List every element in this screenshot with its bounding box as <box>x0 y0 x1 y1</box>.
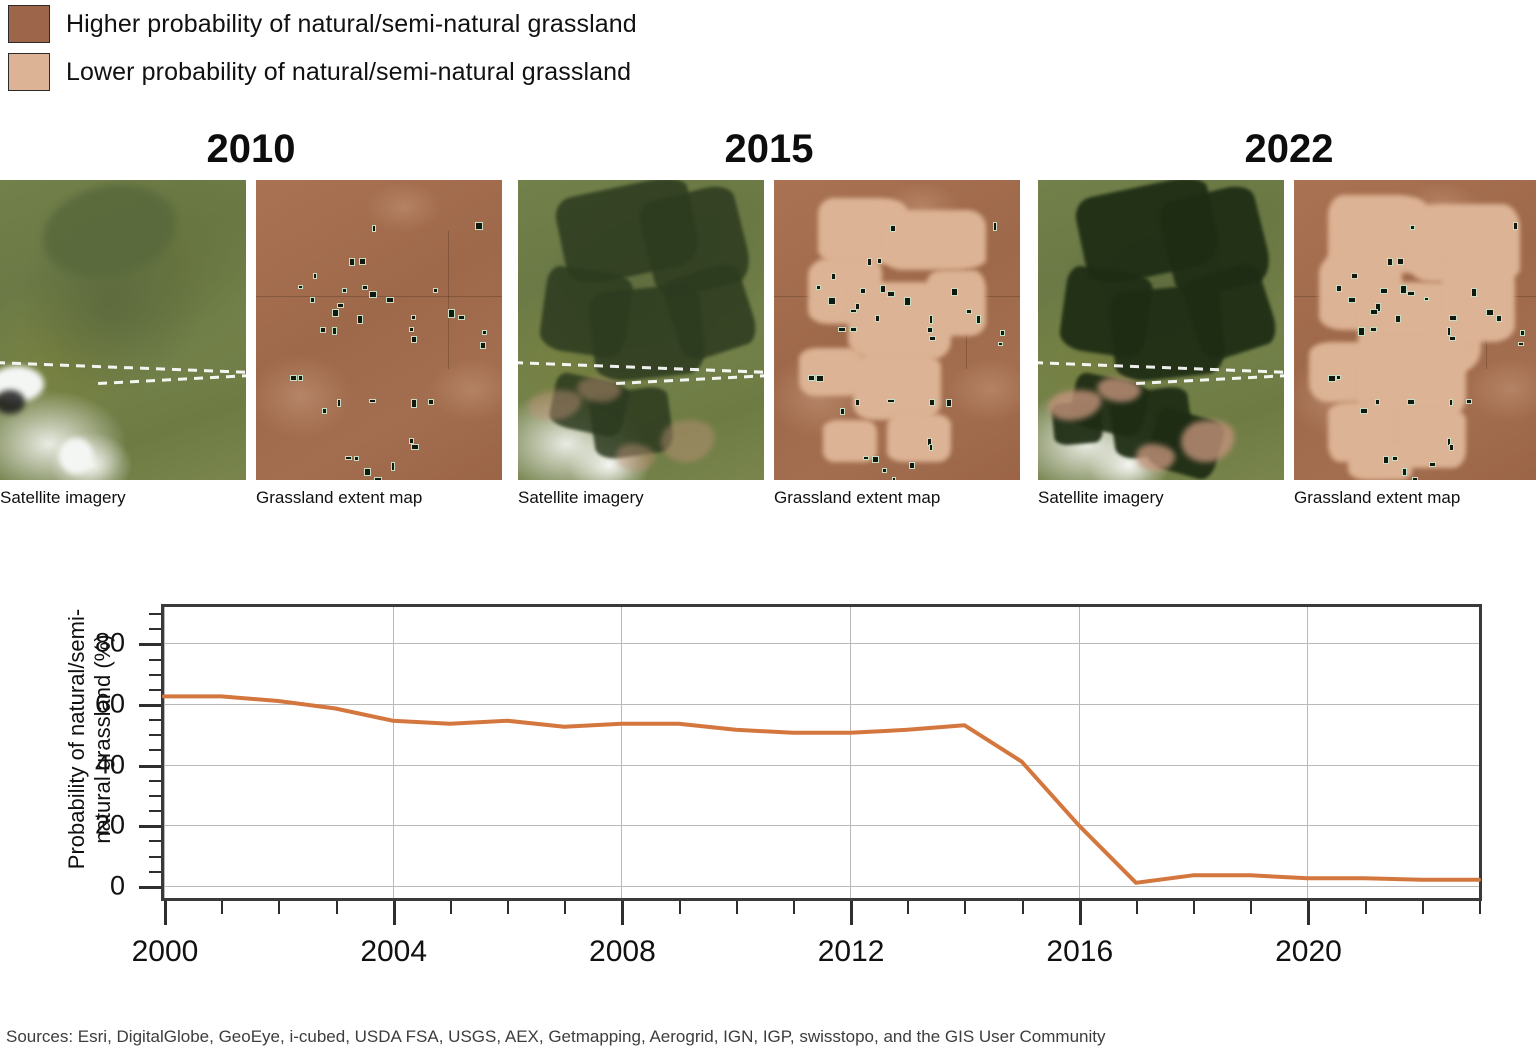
x-axis-tick-label: 2008 <box>589 935 656 969</box>
legend: Higher probability of natural/semi-natur… <box>0 0 1100 96</box>
legend-row-higher: Higher probability of natural/semi-natur… <box>0 0 1100 48</box>
speck <box>1520 330 1525 336</box>
panel-caption: Satellite imagery <box>1038 486 1284 510</box>
speck <box>1370 327 1377 332</box>
river-boundary-line <box>98 374 246 385</box>
speck <box>1360 408 1368 414</box>
speck <box>1447 327 1451 336</box>
x-minor-tick <box>1193 901 1195 914</box>
speck <box>1486 309 1494 316</box>
satellite-terrain <box>1038 180 1284 480</box>
speck <box>362 285 368 290</box>
y-major-tick <box>139 643 161 646</box>
x-minor-tick <box>907 901 909 914</box>
plot-area <box>161 604 1482 901</box>
speck <box>1395 315 1401 323</box>
speck <box>1518 342 1524 346</box>
speck <box>411 444 419 450</box>
y-minor-tick <box>149 628 161 630</box>
grassland-map-panel[interactable]: Grassland extent map <box>774 180 1020 510</box>
x-axis-tick-label: 2012 <box>818 935 885 969</box>
speck <box>1449 336 1456 341</box>
y-minor-tick <box>149 689 161 691</box>
y-minor-tick <box>149 856 161 858</box>
grassland-map-panel[interactable]: Grassland extent map <box>1294 180 1536 510</box>
speck <box>342 288 347 293</box>
grassland-probability-surface <box>1294 180 1536 480</box>
speck <box>887 399 895 403</box>
legend-label-lower: Lower probability of natural/semi-natura… <box>66 60 631 85</box>
y-major-tick <box>139 765 161 768</box>
speck <box>364 468 371 476</box>
speck <box>816 285 821 290</box>
speck <box>1412 477 1418 480</box>
speck <box>867 258 872 266</box>
speck <box>428 399 434 405</box>
satellite-image <box>518 180 764 480</box>
speck <box>951 288 958 296</box>
speck <box>855 399 860 406</box>
speck <box>1000 330 1005 336</box>
speck <box>882 468 887 473</box>
x-minor-tick <box>1022 901 1024 914</box>
y-major-tick <box>139 886 161 889</box>
speck <box>976 315 981 324</box>
x-major-tick <box>1307 901 1310 925</box>
speck <box>831 273 836 280</box>
x-minor-tick <box>1136 901 1138 914</box>
speck <box>409 327 414 332</box>
y-minor-tick <box>149 613 161 615</box>
x-minor-tick <box>1422 901 1424 914</box>
speck <box>386 297 394 303</box>
speck <box>1429 462 1436 467</box>
satellite-terrain <box>0 180 246 480</box>
speck <box>1407 399 1415 405</box>
speck <box>1348 297 1356 303</box>
speck <box>310 297 315 303</box>
speck <box>433 288 438 293</box>
grassland-probability-surface <box>256 180 502 480</box>
speck <box>1380 288 1388 294</box>
cloud-shadow <box>0 390 25 414</box>
x-minor-tick <box>278 901 280 914</box>
speck <box>332 327 337 335</box>
satellite-panel[interactable]: Satellite imagery <box>0 180 246 510</box>
y-minor-tick <box>149 749 161 751</box>
speck <box>838 327 846 332</box>
speck <box>1351 273 1358 279</box>
x-minor-tick <box>736 901 738 914</box>
speck <box>448 309 455 318</box>
speck <box>929 444 933 451</box>
speck <box>482 330 487 335</box>
speck <box>929 336 936 341</box>
y-axis-label: Probability of natural/semi-natural gras… <box>14 586 66 916</box>
panel-caption: Grassland extent map <box>774 486 1020 510</box>
feature-specks <box>1294 180 1536 480</box>
speck <box>391 462 395 471</box>
speck <box>475 222 483 230</box>
speck <box>909 462 915 469</box>
speck <box>1466 399 1472 404</box>
y-minor-tick <box>149 659 161 661</box>
speck <box>1392 456 1398 461</box>
speck <box>349 258 355 266</box>
satellite-image <box>1038 180 1284 480</box>
speck <box>892 477 896 480</box>
x-axis-tick-label: 2020 <box>1275 935 1342 969</box>
speck <box>993 222 997 231</box>
satellite-terrain <box>518 180 764 480</box>
speck <box>929 399 935 406</box>
speck <box>1449 399 1453 406</box>
speck <box>1407 291 1415 296</box>
y-major-tick <box>139 704 161 707</box>
y-minor-tick <box>149 871 161 873</box>
speck <box>372 225 376 232</box>
speck <box>320 327 326 333</box>
satellite-panel[interactable]: Satellite imagery <box>1038 180 1284 510</box>
speck <box>354 456 359 461</box>
x-axis-tick-label: 2016 <box>1046 935 1113 969</box>
speck <box>369 399 376 403</box>
speck <box>411 399 417 408</box>
y-major-tick <box>139 825 161 828</box>
x-minor-tick <box>507 901 509 914</box>
speck <box>1375 399 1380 405</box>
speck <box>1397 258 1404 265</box>
grassland-extent-image <box>774 180 1020 480</box>
satellite-image <box>0 180 246 480</box>
data-line-svg <box>164 607 1479 898</box>
speck <box>850 309 857 313</box>
y-axis-title-line1: Probability of natural/semi- <box>64 574 90 904</box>
speck <box>1496 315 1502 322</box>
y-minor-tick <box>149 795 161 797</box>
image-row: Satellite imageryGrassland extent map <box>0 180 502 510</box>
speck <box>313 273 317 279</box>
speck <box>480 342 486 349</box>
panel-group-2010: 2010Satellite imageryGrassland extent ma… <box>0 118 502 510</box>
speck <box>872 456 879 463</box>
speck <box>290 375 297 381</box>
speck <box>828 297 836 305</box>
speck <box>1513 222 1518 230</box>
speck <box>357 315 363 324</box>
y-minor-tick <box>149 734 161 736</box>
speck <box>298 375 303 381</box>
speck <box>1336 285 1342 292</box>
image-row: Satellite imageryGrassland extent map <box>1038 180 1536 510</box>
speck <box>1336 375 1341 380</box>
speck <box>337 399 341 407</box>
speck <box>359 258 366 265</box>
panel-caption: Grassland extent map <box>1294 486 1536 510</box>
speck <box>332 309 339 317</box>
probability-line-chart: 020406080200020042008201220162020 <box>0 560 1536 980</box>
speck <box>345 456 352 460</box>
speck <box>998 342 1003 346</box>
sources-note: Sources: Esri, DigitalGlobe, GeoEye, i-c… <box>6 1027 1105 1047</box>
speck <box>1387 258 1393 266</box>
feature-specks <box>774 180 1020 480</box>
x-minor-tick <box>679 901 681 914</box>
speck <box>1370 309 1378 315</box>
speck <box>860 288 866 294</box>
speck <box>1410 225 1415 230</box>
probability-series-line <box>164 696 1479 882</box>
y-minor-tick <box>149 674 161 676</box>
feature-specks <box>256 180 502 480</box>
panel-groups: 2010Satellite imageryGrassland extent ma… <box>0 118 1536 528</box>
legend-swatch-lower <box>8 53 50 91</box>
cloud <box>59 438 93 474</box>
speck <box>1424 297 1429 301</box>
speck <box>890 225 896 232</box>
year-title: 2022 <box>1038 118 1536 180</box>
speck <box>322 408 327 414</box>
y-minor-tick <box>149 780 161 782</box>
panel-caption: Satellite imagery <box>0 486 246 510</box>
legend-swatch-higher <box>8 5 50 43</box>
panel-group-2015: 2015Satellite imageryGrassland extent ma… <box>518 118 1020 510</box>
x-major-tick <box>1079 901 1082 925</box>
speck <box>887 291 895 297</box>
x-minor-tick <box>1250 901 1252 914</box>
x-minor-tick <box>793 901 795 914</box>
speck <box>1402 468 1407 476</box>
x-minor-tick <box>964 901 966 914</box>
x-minor-tick <box>1479 901 1481 914</box>
x-major-tick <box>164 901 167 925</box>
legend-label-higher: Higher probability of natural/semi-natur… <box>66 12 637 37</box>
y-minor-tick <box>149 840 161 842</box>
x-major-tick <box>393 901 396 925</box>
speck <box>1400 285 1407 294</box>
grassland-extent-image <box>256 180 502 480</box>
x-minor-tick <box>564 901 566 914</box>
speck <box>850 327 857 332</box>
speck <box>816 375 824 382</box>
year-title: 2015 <box>518 118 1020 180</box>
year-title: 2010 <box>0 118 502 180</box>
speck <box>929 315 933 324</box>
y-minor-tick <box>149 719 161 721</box>
speck <box>875 315 880 322</box>
x-axis-tick-label: 2000 <box>132 935 199 969</box>
y-minor-tick <box>149 810 161 812</box>
speck <box>840 408 845 415</box>
speck <box>369 291 377 298</box>
y-axis-title: Probability of natural/semi-natural gras… <box>64 574 116 904</box>
image-row: Satellite imageryGrassland extent map <box>518 180 1020 510</box>
speck <box>1449 444 1454 451</box>
speck <box>337 303 344 308</box>
speck <box>1358 327 1365 336</box>
speck <box>374 477 382 480</box>
speck <box>298 285 303 289</box>
speck <box>1471 288 1477 297</box>
panel-group-2022: 2022Satellite imageryGrassland extent ma… <box>1038 118 1536 510</box>
speck <box>1383 456 1389 464</box>
x-minor-tick <box>1365 901 1367 914</box>
speck <box>946 399 952 407</box>
speck <box>880 285 886 293</box>
speck <box>877 258 882 264</box>
x-minor-tick <box>336 901 338 914</box>
panel-caption: Satellite imagery <box>518 486 764 510</box>
speck <box>411 315 416 320</box>
satellite-panel[interactable]: Satellite imagery <box>518 180 764 510</box>
speck <box>863 456 869 460</box>
speck <box>458 315 465 320</box>
grassland-map-panel[interactable]: Grassland extent map <box>256 180 502 510</box>
y-axis-title-line2: natural grassland (%) <box>90 574 116 904</box>
x-major-tick <box>850 901 853 925</box>
x-minor-tick <box>450 901 452 914</box>
forest-block <box>34 180 185 289</box>
x-minor-tick <box>221 901 223 914</box>
speck <box>808 375 815 381</box>
speck <box>966 309 972 314</box>
panel-caption: Grassland extent map <box>256 486 502 510</box>
speck <box>411 336 417 343</box>
legend-row-lower: Lower probability of natural/semi-natura… <box>0 48 1100 96</box>
speck <box>1449 315 1457 321</box>
x-major-tick <box>621 901 624 925</box>
speck <box>904 297 911 306</box>
speck <box>927 327 933 333</box>
grassland-probability-surface <box>774 180 1020 480</box>
grassland-extent-image <box>1294 180 1536 480</box>
x-axis-tick-label: 2004 <box>360 935 427 969</box>
